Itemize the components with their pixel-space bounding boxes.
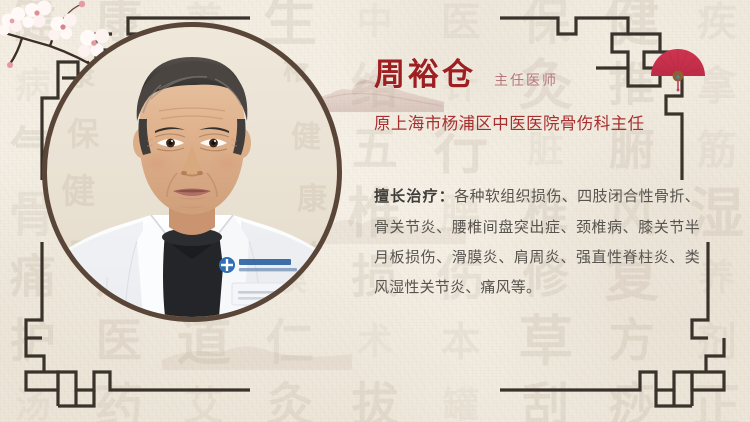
- doctor-portrait: 康 椿 保 健 健 康 医 养: [42, 22, 342, 322]
- doctor-profile-card: 健康养生中医保健疾病调理经络针灸推拿气血阴阳五行脏腑筋骨关节颈椎腰椎风湿痛风滑膜…: [0, 0, 750, 422]
- doctor-rank: 主任医师: [494, 70, 558, 90]
- doctor-name: 周裕仓: [374, 60, 476, 91]
- doctor-specialty-block: 擅长治疗：各种软组织损伤、四肢闭合性骨折、骨关节炎、腰椎间盘突出症、颈椎病、膝关…: [374, 181, 700, 302]
- portrait-ring-frame: [42, 22, 342, 322]
- specialty-colon: ：: [439, 187, 454, 205]
- doctor-hospital-title: 原上海市杨浦区中医医院骨伤科主任: [374, 113, 704, 134]
- doctor-name-row: 周裕仓 主任医师: [374, 60, 704, 91]
- doctor-info-panel: 周裕仓 主任医师 原上海市杨浦区中医医院骨伤科主任 擅长治疗：各种软组织损伤、四…: [374, 60, 704, 303]
- specialty-label: 擅长治疗: [374, 187, 439, 205]
